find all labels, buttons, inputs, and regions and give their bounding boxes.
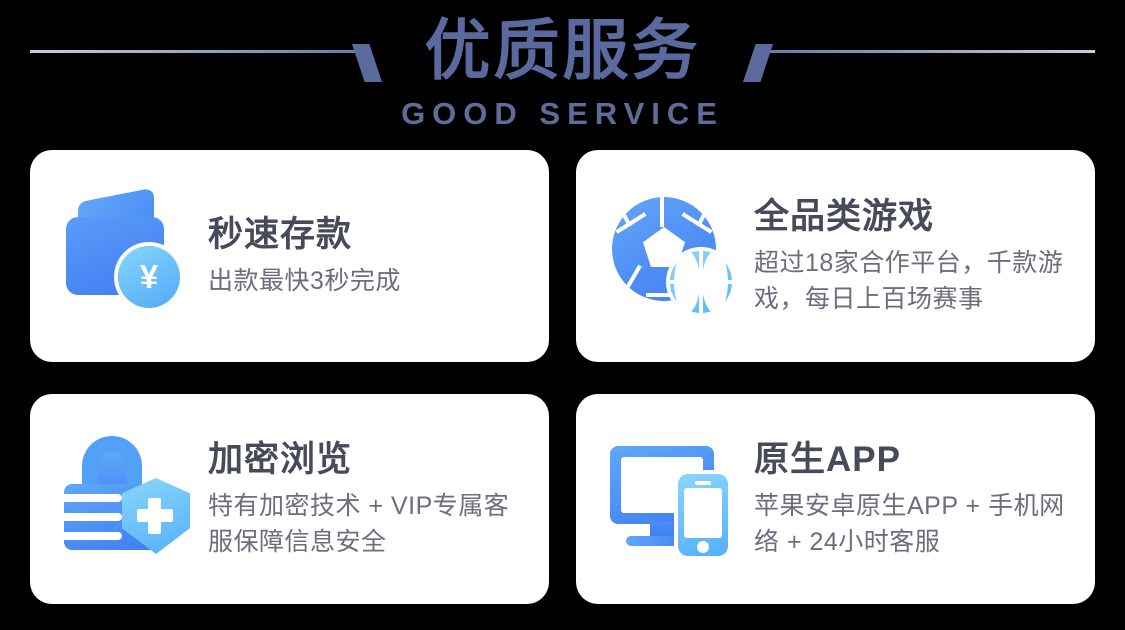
page-subtitle: GOOD SERVICE <box>0 96 1125 132</box>
soccer-seam-6 <box>614 199 632 227</box>
card-title: 加密浏览 <box>208 438 523 482</box>
yen-symbol: ¥ <box>140 260 158 293</box>
card-description: 苹果安卓原生APP + 手机网络 + 24小时客服 <box>754 488 1069 560</box>
lock-stripe-1 <box>64 494 122 502</box>
basketball-curve-left <box>674 251 700 313</box>
card-title: 全品类游戏 <box>754 195 1069 239</box>
card-text-block: 秒速存款 出款最快3秒完成 <box>200 213 523 299</box>
card-text-block: 加密浏览 特有加密技术 + VIP专属客服保障信息安全 <box>200 438 523 560</box>
phone-home-button <box>697 541 709 553</box>
phone-speaker <box>695 481 711 485</box>
soccer-basketball-icon <box>606 191 746 321</box>
soccer-seam-4 <box>618 265 641 301</box>
card-description: 超过18家合作平台，千款游戏，每日上百场赛事 <box>754 245 1069 317</box>
feature-card-native-app[interactable]: 原生APP 苹果安卓原生APP + 手机网络 + 24小时客服 <box>576 394 1095 604</box>
decorative-line-right <box>770 50 1095 53</box>
lock-stripe-3 <box>64 532 122 540</box>
card-description: 出款最快3秒完成 <box>208 263 523 299</box>
card-title: 秒速存款 <box>208 213 523 257</box>
monitor-phone-icon <box>606 434 746 564</box>
feature-card-grid: ¥ 秒速存款 出款最快3秒完成 <box>30 150 1095 604</box>
page-header: 优质服务 GOOD SERVICE <box>0 0 1125 145</box>
phone-icon <box>678 474 728 556</box>
basketball-curve-right <box>702 251 728 313</box>
yen-coin-icon: ¥ <box>118 246 180 308</box>
feature-card-all-category-games[interactable]: 全品类游戏 超过18家合作平台，千款游戏，每日上百场赛事 <box>576 150 1095 362</box>
card-description: 特有加密技术 + VIP专属客服保障信息安全 <box>208 488 523 560</box>
card-text-block: 原生APP 苹果安卓原生APP + 手机网络 + 24小时客服 <box>746 438 1069 560</box>
lock-stripe-2 <box>64 513 122 521</box>
soccer-seam-1 <box>660 197 664 227</box>
feature-card-encrypted-browsing[interactable]: 加密浏览 特有加密技术 + VIP专属客服保障信息安全 <box>30 394 549 604</box>
card-text-block: 全品类游戏 超过18家合作平台，千款游戏，每日上百场赛事 <box>746 195 1069 317</box>
soccer-seam-7 <box>696 199 714 227</box>
lock-shield-icon <box>60 434 200 564</box>
feature-card-instant-deposit[interactable]: ¥ 秒速存款 出款最快3秒完成 <box>30 150 549 362</box>
wallet-coin-icon: ¥ <box>60 191 200 321</box>
card-title: 原生APP <box>754 438 1069 482</box>
basketball-icon <box>670 251 732 313</box>
